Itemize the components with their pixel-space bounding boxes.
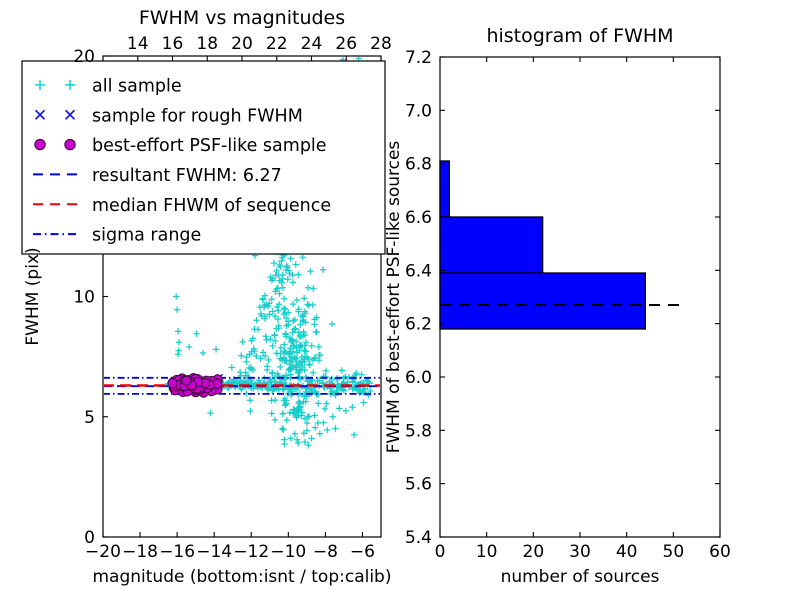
- scatter-point-all-sample: [175, 328, 181, 334]
- scatter-point-all-sample: [313, 329, 319, 335]
- matplotlib-figure: −20−18−16−14−12−10−8−6141618202224262805…: [0, 0, 800, 600]
- y-ticklabel: 5.6: [405, 475, 432, 495]
- legend-marker-circle-icon: [35, 139, 45, 149]
- y-ticklabel: 7.0: [405, 101, 432, 121]
- scatter-point-all-sample: [247, 408, 253, 414]
- x-ticklabel-top: 22: [266, 34, 288, 54]
- scatter-point-all-sample: [281, 341, 287, 347]
- scatter-point-all-sample: [237, 369, 243, 375]
- scatter-point-all-sample: [336, 405, 342, 411]
- x-ticklabel-top: 16: [162, 34, 184, 54]
- scatter-point-all-sample: [310, 302, 316, 308]
- y-ticklabel: 6.0: [405, 368, 432, 388]
- scatter-point-all-sample: [284, 417, 290, 423]
- x-ticklabel: 10: [476, 542, 498, 562]
- scatter-point-all-sample: [349, 404, 355, 410]
- scatter-point-all-sample: [263, 337, 269, 343]
- scatter-point-all-sample: [200, 350, 206, 356]
- scatter-point-all-sample: [295, 271, 301, 277]
- scatter-point-all-sample: [308, 435, 314, 441]
- scatter-point-all-sample: [317, 430, 323, 436]
- scatter-point-all-sample: [173, 293, 179, 299]
- scatter-point-all-sample: [277, 364, 283, 370]
- scatter-point-all-sample: [174, 307, 180, 313]
- y-ticklabel: 6.6: [405, 208, 432, 228]
- scatter-point-all-sample: [176, 339, 182, 345]
- y-ticklabel-left: 0: [84, 528, 95, 548]
- scatter-point-all-sample: [292, 431, 298, 437]
- scatter-point-all-sample: [332, 425, 338, 431]
- right-panel-title: histogram of FWHM: [486, 25, 673, 47]
- y-ticklabel-left: 20: [73, 47, 95, 67]
- legend-label: resultant FWHM: 6.27: [92, 166, 282, 186]
- x-ticklabel-bottom: −12: [233, 542, 269, 562]
- left-panel-ylabel: FWHM (pix): [23, 247, 43, 345]
- scatter-point-all-sample: [294, 297, 300, 303]
- scatter-point-all-sample: [255, 326, 261, 332]
- scatter-point-all-sample: [300, 329, 306, 335]
- scatter-point-all-sample: [316, 344, 322, 350]
- scatter-point-all-sample: [300, 254, 306, 260]
- x-ticklabel-bottom: −8: [313, 542, 338, 562]
- x-ticklabel-bottom: −18: [122, 542, 158, 562]
- scatter-point-all-sample: [279, 425, 285, 431]
- y-ticklabel: 5.8: [405, 421, 432, 441]
- scatter-point-all-sample: [275, 316, 281, 322]
- scatter-point-all-sample: [293, 261, 299, 267]
- scatter-point-all-sample: [311, 412, 317, 418]
- x-ticklabel-top: 26: [335, 34, 357, 54]
- scatter-point-all-sample: [295, 440, 301, 446]
- scatter-point-all-sample: [322, 406, 328, 412]
- y-ticklabel-left: 10: [73, 288, 95, 308]
- scatter-point-all-sample: [305, 442, 311, 448]
- y-ticklabel: 6.8: [405, 155, 432, 175]
- histogram-bar: [440, 161, 449, 217]
- scatter-point-all-sample: [290, 279, 296, 285]
- scatter-point-all-sample: [229, 364, 235, 370]
- scatter-point-all-sample: [175, 351, 181, 357]
- y-ticklabel: 5.4: [405, 528, 432, 548]
- scatter-point-all-sample: [287, 255, 293, 261]
- scatter-point-all-sample: [301, 295, 307, 301]
- histogram-bar: [440, 217, 543, 273]
- y-ticklabel: 6.2: [405, 315, 432, 335]
- legend-label: median FHWM of sequence: [92, 196, 331, 216]
- scatter-point-all-sample: [269, 410, 275, 416]
- scatter-point-all-sample: [280, 427, 286, 433]
- x-ticklabel: 40: [616, 542, 638, 562]
- x-ticklabel: 20: [523, 542, 545, 562]
- scatter-point-all-sample: [274, 350, 280, 356]
- scatter-point-all-sample: [358, 371, 364, 377]
- scatter-point-all-sample: [302, 439, 308, 445]
- scatter-point-all-sample: [330, 414, 336, 420]
- x-ticklabel-top: 28: [370, 34, 392, 54]
- right-panel-xlabel: number of sources: [501, 567, 660, 587]
- scatter-point-psf-like: [182, 376, 191, 385]
- scatter-point-all-sample: [308, 343, 314, 349]
- y-ticklabel: 7.2: [405, 48, 432, 68]
- scatter-point-all-sample: [303, 348, 309, 354]
- x-ticklabel-bottom: −14: [196, 542, 232, 562]
- y-ticklabel: 6.4: [405, 261, 432, 281]
- scatter-point-all-sample: [239, 339, 245, 345]
- x-ticklabel-top: 14: [127, 34, 149, 54]
- scatter-point-all-sample: [278, 345, 284, 351]
- scatter-point-all-sample: [272, 417, 278, 423]
- scatter-point-all-sample: [207, 410, 213, 416]
- x-ticklabel-top: 18: [196, 34, 218, 54]
- scatter-point-all-sample: [290, 301, 296, 307]
- scatter-point-all-sample: [213, 346, 219, 352]
- legend-marker-circle-icon: [65, 139, 75, 149]
- scatter-point-all-sample: [282, 306, 288, 312]
- scatter-point-all-sample: [269, 277, 275, 283]
- scatter-point-all-sample: [238, 353, 244, 359]
- left-panel-xlabel: magnitude (bottom:isnt / top:calib): [93, 567, 392, 587]
- x-ticklabel: 60: [709, 542, 731, 562]
- scatter-point-all-sample: [288, 435, 294, 441]
- histogram-bar: [440, 273, 645, 329]
- right-panel-histogram: [440, 57, 720, 537]
- scatter-point-all-sample: [247, 397, 253, 403]
- scatter-point-all-sample: [307, 268, 313, 274]
- scatter-point-all-sample: [271, 260, 277, 266]
- scatter-point-all-sample: [243, 359, 249, 365]
- scatter-point-all-sample: [272, 397, 278, 403]
- scatter-point-all-sample: [323, 400, 329, 406]
- scatter-point-all-sample: [323, 368, 329, 374]
- scatter-point-all-sample: [339, 367, 345, 373]
- x-ticklabel-top: 24: [301, 34, 323, 54]
- figure-canvas: −20−18−16−14−12−10−8−6141618202224262805…: [0, 0, 800, 600]
- series-psf-like: [168, 374, 222, 398]
- scatter-point-all-sample: [305, 285, 311, 291]
- x-ticklabel-bottom: −16: [159, 542, 195, 562]
- scatter-point-all-sample: [186, 344, 192, 350]
- scatter-point-all-sample: [343, 408, 349, 414]
- legend-label: best-effort PSF-like sample: [92, 136, 327, 156]
- x-ticklabel: 0: [435, 542, 446, 562]
- x-ticklabel: 30: [569, 542, 591, 562]
- x-ticklabel-bottom: −6: [350, 542, 375, 562]
- scatter-point-all-sample: [360, 399, 366, 405]
- scatter-point-all-sample: [280, 411, 286, 417]
- scatter-point-all-sample: [265, 357, 271, 363]
- scatter-point-all-sample: [253, 317, 259, 323]
- left-panel-title: FWHM vs magnitudes: [139, 7, 345, 29]
- scatter-point-all-sample: [281, 441, 287, 447]
- scatter-point-all-sample: [320, 420, 326, 426]
- scatter-point-all-sample: [329, 321, 335, 327]
- scatter-point-all-sample: [262, 333, 268, 339]
- right-panel-ylabel: FWHM of best-effort PSF-like sources: [384, 141, 404, 454]
- x-ticklabel-top: 20: [231, 34, 253, 54]
- x-ticklabel-bottom: −10: [270, 542, 306, 562]
- scatter-point-all-sample: [294, 437, 300, 443]
- scatter-point-all-sample: [303, 339, 309, 345]
- scatter-point-all-sample: [310, 285, 316, 291]
- scatter-point-all-sample: [320, 267, 326, 273]
- legend: [22, 61, 385, 254]
- scatter-point-all-sample: [351, 432, 357, 438]
- scatter-point-all-sample: [281, 305, 287, 311]
- x-ticklabel: 50: [663, 542, 685, 562]
- legend-label: sample for rough FWHM: [92, 106, 303, 126]
- scatter-point-psf-like: [168, 379, 177, 388]
- legend-box: [22, 61, 385, 254]
- scatter-point-all-sample: [310, 370, 316, 376]
- y-ticklabel-left: 5: [84, 408, 95, 428]
- scatter-point-all-sample: [315, 400, 321, 406]
- legend-label: all sample: [92, 76, 182, 96]
- scatter-point-all-sample: [324, 427, 330, 433]
- legend-label: sigma range: [92, 226, 201, 246]
- scatter-point-all-sample: [311, 321, 317, 327]
- scatter-point-all-sample: [281, 295, 287, 301]
- scatter-point-all-sample: [193, 331, 199, 337]
- scatter-point-all-sample: [271, 332, 277, 338]
- scatter-point-all-sample: [275, 307, 281, 313]
